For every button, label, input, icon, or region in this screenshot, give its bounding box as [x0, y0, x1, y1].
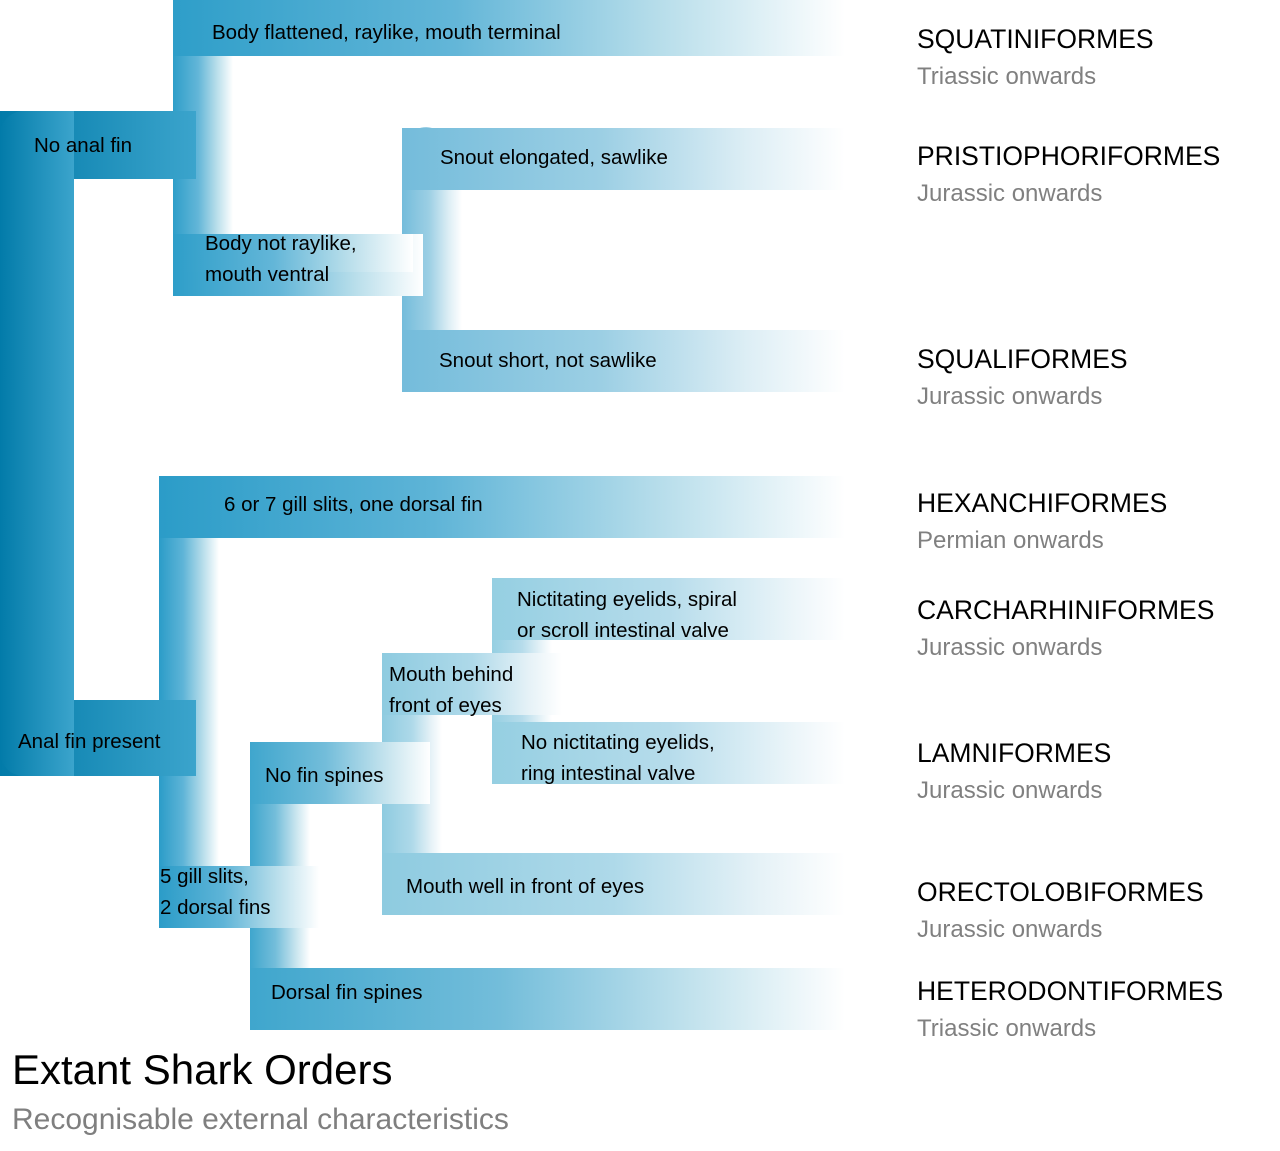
node-label-snout-short: Snout short, not sawlike — [439, 345, 657, 376]
node-label-body-flattened: Body flattened, raylike, mouth terminal — [212, 17, 561, 48]
order-name-pristiophoriformes: PRISTIOPHORIFORMES — [917, 141, 1220, 171]
node-label-mouth-well-front: Mouth well in front of eyes — [406, 871, 644, 902]
node-label-body-not-raylike-line2: mouth ventral — [205, 259, 329, 290]
node-label-no-anal-fin: No anal fin — [34, 130, 132, 161]
node-label-nictitating-line2: or scroll intestinal valve — [517, 615, 729, 646]
order-age-squatiniformes: Triassic onwards — [917, 63, 1096, 91]
order-name-squaliformes: SQUALIFORMES — [917, 344, 1128, 374]
order-age-pristiophoriformes: Jurassic onwards — [917, 180, 1102, 208]
order-age-orectolobiformes: Jurassic onwards — [917, 916, 1102, 944]
order-name-lamniformes: LAMNIFORMES — [917, 738, 1111, 768]
node-label-no-nictitating-line1: No nictitating eyelids, — [521, 727, 715, 758]
node-label-six-seven-gill: 6 or 7 gill slits, one dorsal fin — [224, 489, 483, 520]
node-label-mouth-behind-line1: Mouth behind — [389, 659, 513, 690]
order-age-hexanchiformes: Permian onwards — [917, 527, 1104, 555]
page-title: Extant Shark Orders — [12, 1046, 392, 1094]
order-age-lamniformes: Jurassic onwards — [917, 777, 1102, 805]
node-label-no-fin-spines: No fin spines — [265, 760, 384, 791]
order-name-orectolobiformes: ORECTOLOBIFORMES — [917, 877, 1204, 907]
node-label-body-not-raylike-line1: Body not raylike, — [205, 228, 357, 259]
node-label-anal-fin-present: Anal fin present — [18, 726, 160, 757]
order-name-hexanchiformes: HEXANCHIFORMES — [917, 488, 1167, 518]
order-age-carcharhiniformes: Jurassic onwards — [917, 634, 1102, 662]
cladogram-stage: No anal fin Body flattened, raylike, mou… — [0, 0, 1280, 1151]
node-label-nictitating-line1: Nictitating eyelids, spiral — [517, 584, 737, 615]
order-name-heterodontiformes: HETERODONTIFORMES — [917, 976, 1223, 1006]
page-subtitle: Recognisable external characteristics — [12, 1103, 509, 1137]
node-label-no-nictitating-line2: ring intestinal valve — [521, 758, 695, 789]
node-label-five-gill-line1: 5 gill slits, — [160, 861, 249, 892]
order-name-carcharhiniformes: CARCHARHINIFORMES — [917, 595, 1214, 625]
order-name-squatiniformes: SQUATINIFORMES — [917, 24, 1154, 54]
order-age-heterodontiformes: Triassic onwards — [917, 1015, 1096, 1043]
node-label-dorsal-fin-spines: Dorsal fin spines — [271, 977, 423, 1008]
node-label-mouth-behind-line2: front of eyes — [389, 690, 502, 721]
order-age-squaliformes: Jurassic onwards — [917, 383, 1102, 411]
node-label-five-gill-line2: 2 dorsal fins — [160, 892, 271, 923]
node-label-snout-elongated: Snout elongated, sawlike — [440, 142, 668, 173]
